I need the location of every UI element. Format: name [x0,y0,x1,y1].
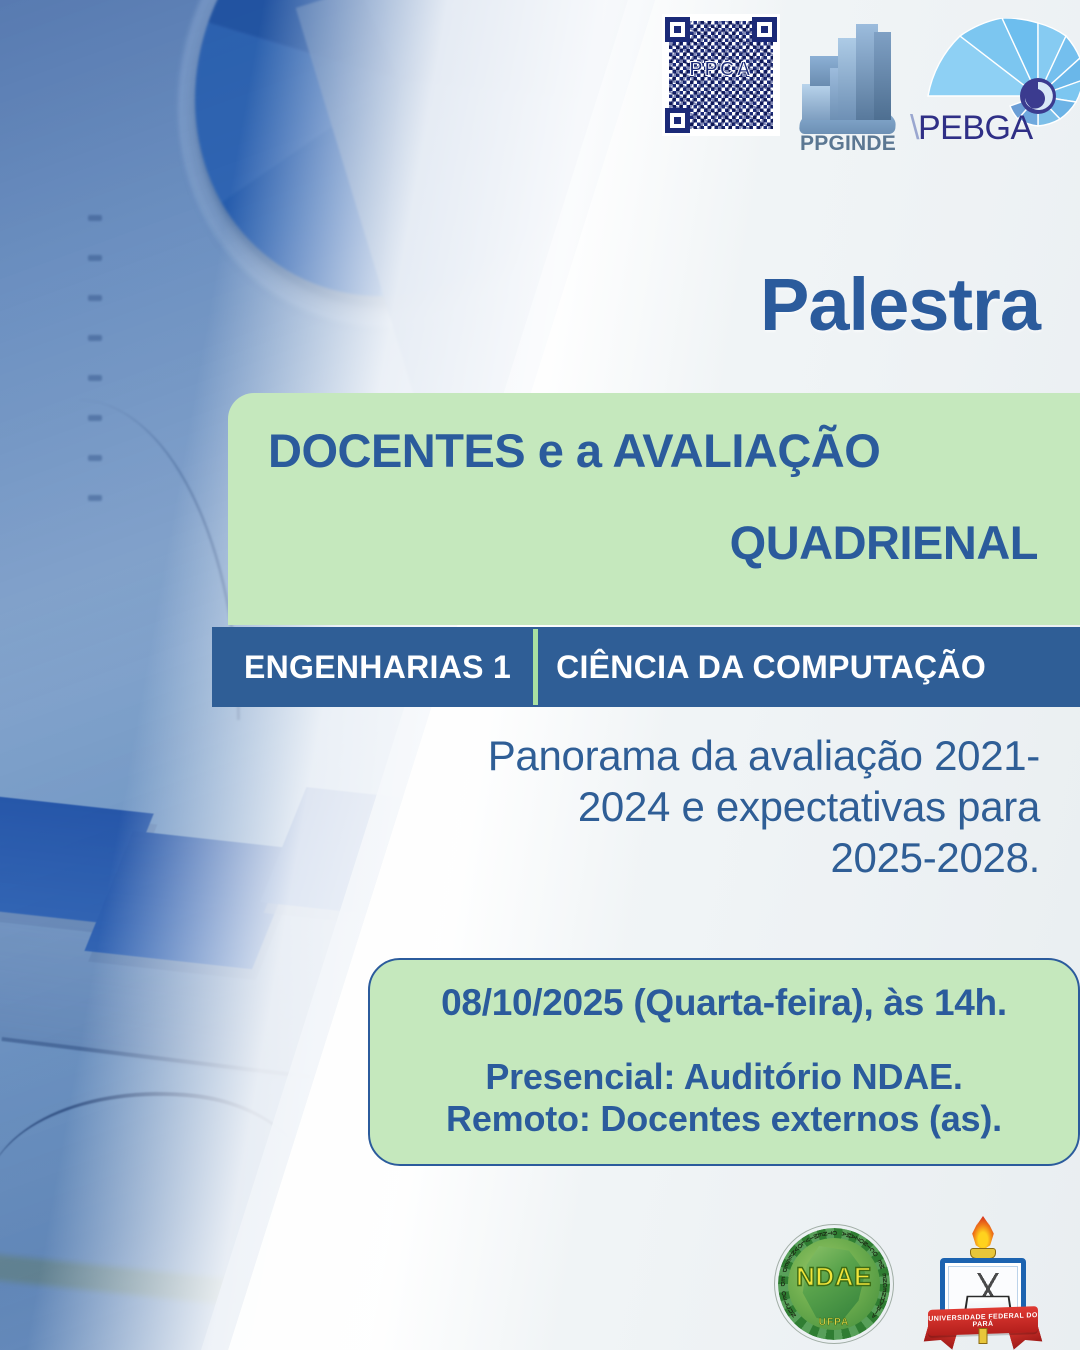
qr-finder-icon [665,108,690,133]
ppginde-logo-label: PPGINDE [794,132,902,156]
ndae-logo-sublabel: UFPA [774,1317,894,1328]
qr-code-ppca[interactable]: PPCA [662,14,780,136]
bar-chart-logo-icon [794,18,902,130]
poster-root: PPCA PPGINDE [0,0,1080,1350]
page-eyebrow: Palestra [760,262,1040,347]
footer-logo-row: NÚCLEO DE DESENVOLVIMENTO AMAZÔNICO EM E… [774,1216,1038,1344]
event-mode: Presencial: Auditório NDAE. Remoto: Doce… [398,1056,1050,1141]
torch-flame-icon [968,1216,998,1250]
page-title-line1: DOCENTES e a AVALIAÇÃO [268,427,1038,475]
qr-finder-icon [752,17,777,42]
qr-finder-icon [665,17,690,42]
event-mode-onsite: Presencial: Auditório NDAE. [398,1056,1050,1098]
area-bar-left-label: ENGENHARIAS 1 [212,649,533,686]
area-bar-right-label: CIÊNCIA DA COMPUTAÇÃO [538,649,986,686]
ppginde-logo: PPGINDE [794,14,902,156]
event-mode-remote: Remoto: Docentes externos (as). [398,1098,1050,1140]
pebga-logo: \ PEBGA [916,14,1080,154]
ufpa-logo: UNIVERSIDADE FEDERAL DO PARÁ [928,1216,1038,1344]
page-title-line2: QUADRIENAL [268,519,1038,567]
torch-stem-icon [979,1328,988,1344]
page-subtitle: Panorama da avaliação 2021-2024 e expect… [480,730,1040,884]
ndae-logo: NÚCLEO DE DESENVOLVIMENTO AMAZÔNICO EM E… [774,1224,894,1344]
area-bar: ENGENHARIAS 1 CIÊNCIA DA COMPUTAÇÃO [212,627,1080,707]
title-banner: DOCENTES e a AVALIAÇÃO QUADRIENAL [228,393,1080,625]
ndae-logo-label: NDAE [774,1261,894,1292]
event-date-time: 08/10/2025 (Quarta-feira), às 14h. [398,982,1050,1024]
event-info-box: 08/10/2025 (Quarta-feira), às 14h. Prese… [368,958,1080,1166]
pebga-logo-label: PEBGA [918,109,1033,148]
qr-code-label: PPCA [662,59,780,82]
header-logo-row: PPCA PPGINDE [662,14,1072,164]
